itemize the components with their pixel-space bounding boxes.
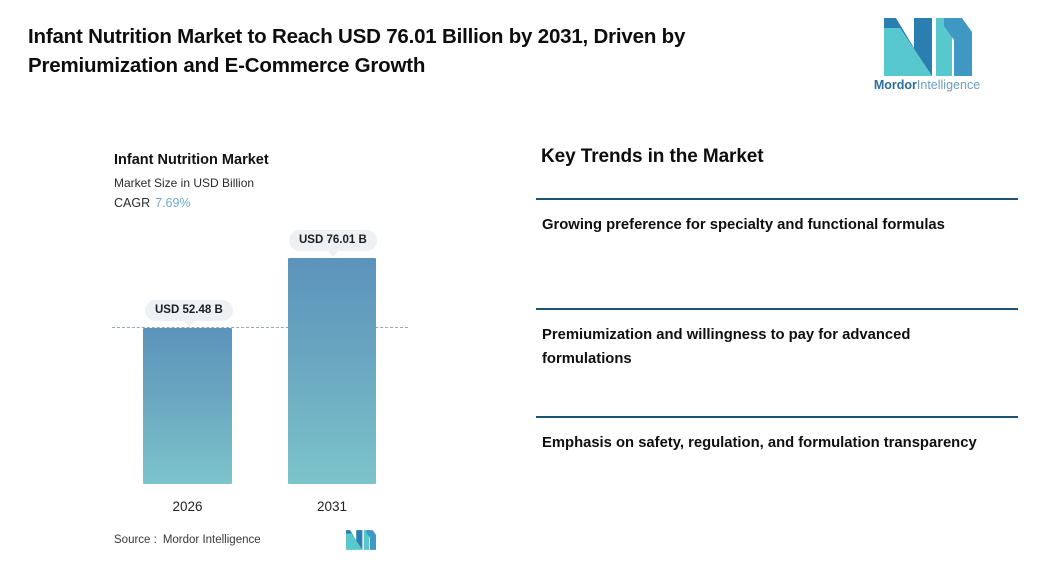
trend-divider (536, 308, 1018, 310)
x-axis-label-2026: 2026 (143, 499, 232, 514)
brand-wordmark: MordorIntelligence (872, 78, 982, 92)
trend-divider (536, 416, 1018, 418)
trend-item: Emphasis on safety, regulation, and form… (536, 416, 1018, 455)
x-axis-label-2031: 2031 (288, 499, 376, 514)
trend-item-text: Growing preference for specialty and fun… (536, 213, 1002, 237)
chart-source: Source :Mordor Intelligence (114, 534, 261, 546)
bar-value-callout-2031: USD 76.01 B (289, 230, 377, 251)
brand-logo: MordorIntelligence (872, 18, 982, 100)
bar-2031 (288, 258, 376, 484)
chart-source-label: Source : (114, 534, 157, 546)
trends-heading: Key Trends in the Market (541, 146, 764, 168)
chart-panel: Infant Nutrition Market Market Size in U… (0, 128, 500, 558)
mordor-intelligence-logo-mark-icon (884, 18, 972, 76)
key-trends-panel: Key Trends in the Market Growing prefere… (536, 140, 1018, 560)
trend-item: Growing preference for specialty and fun… (536, 198, 1018, 237)
trend-item-text: Premiumization and willingness to pay fo… (536, 323, 1002, 371)
chart-source-value: Mordor Intelligence (163, 534, 261, 546)
trend-item-text: Emphasis on safety, regulation, and form… (536, 431, 1002, 455)
page-title: Infant Nutrition Market to Reach USD 76.… (28, 22, 828, 80)
bar-value-callout-2026: USD 52.48 B (145, 300, 233, 321)
trend-divider (536, 198, 1018, 200)
page-header: Infant Nutrition Market to Reach USD 76.… (0, 0, 1042, 110)
trend-item: Premiumization and willingness to pay fo… (536, 308, 1018, 371)
mordor-intelligence-logo-mark-small-icon (346, 530, 376, 550)
bar-2026 (143, 328, 232, 484)
brand-wordmark-bold: Mordor (874, 78, 917, 92)
brand-wordmark-light: Intelligence (917, 78, 980, 92)
bar-chart-plot: USD 52.48 B USD 76.01 B 2026 2031 (0, 128, 500, 558)
